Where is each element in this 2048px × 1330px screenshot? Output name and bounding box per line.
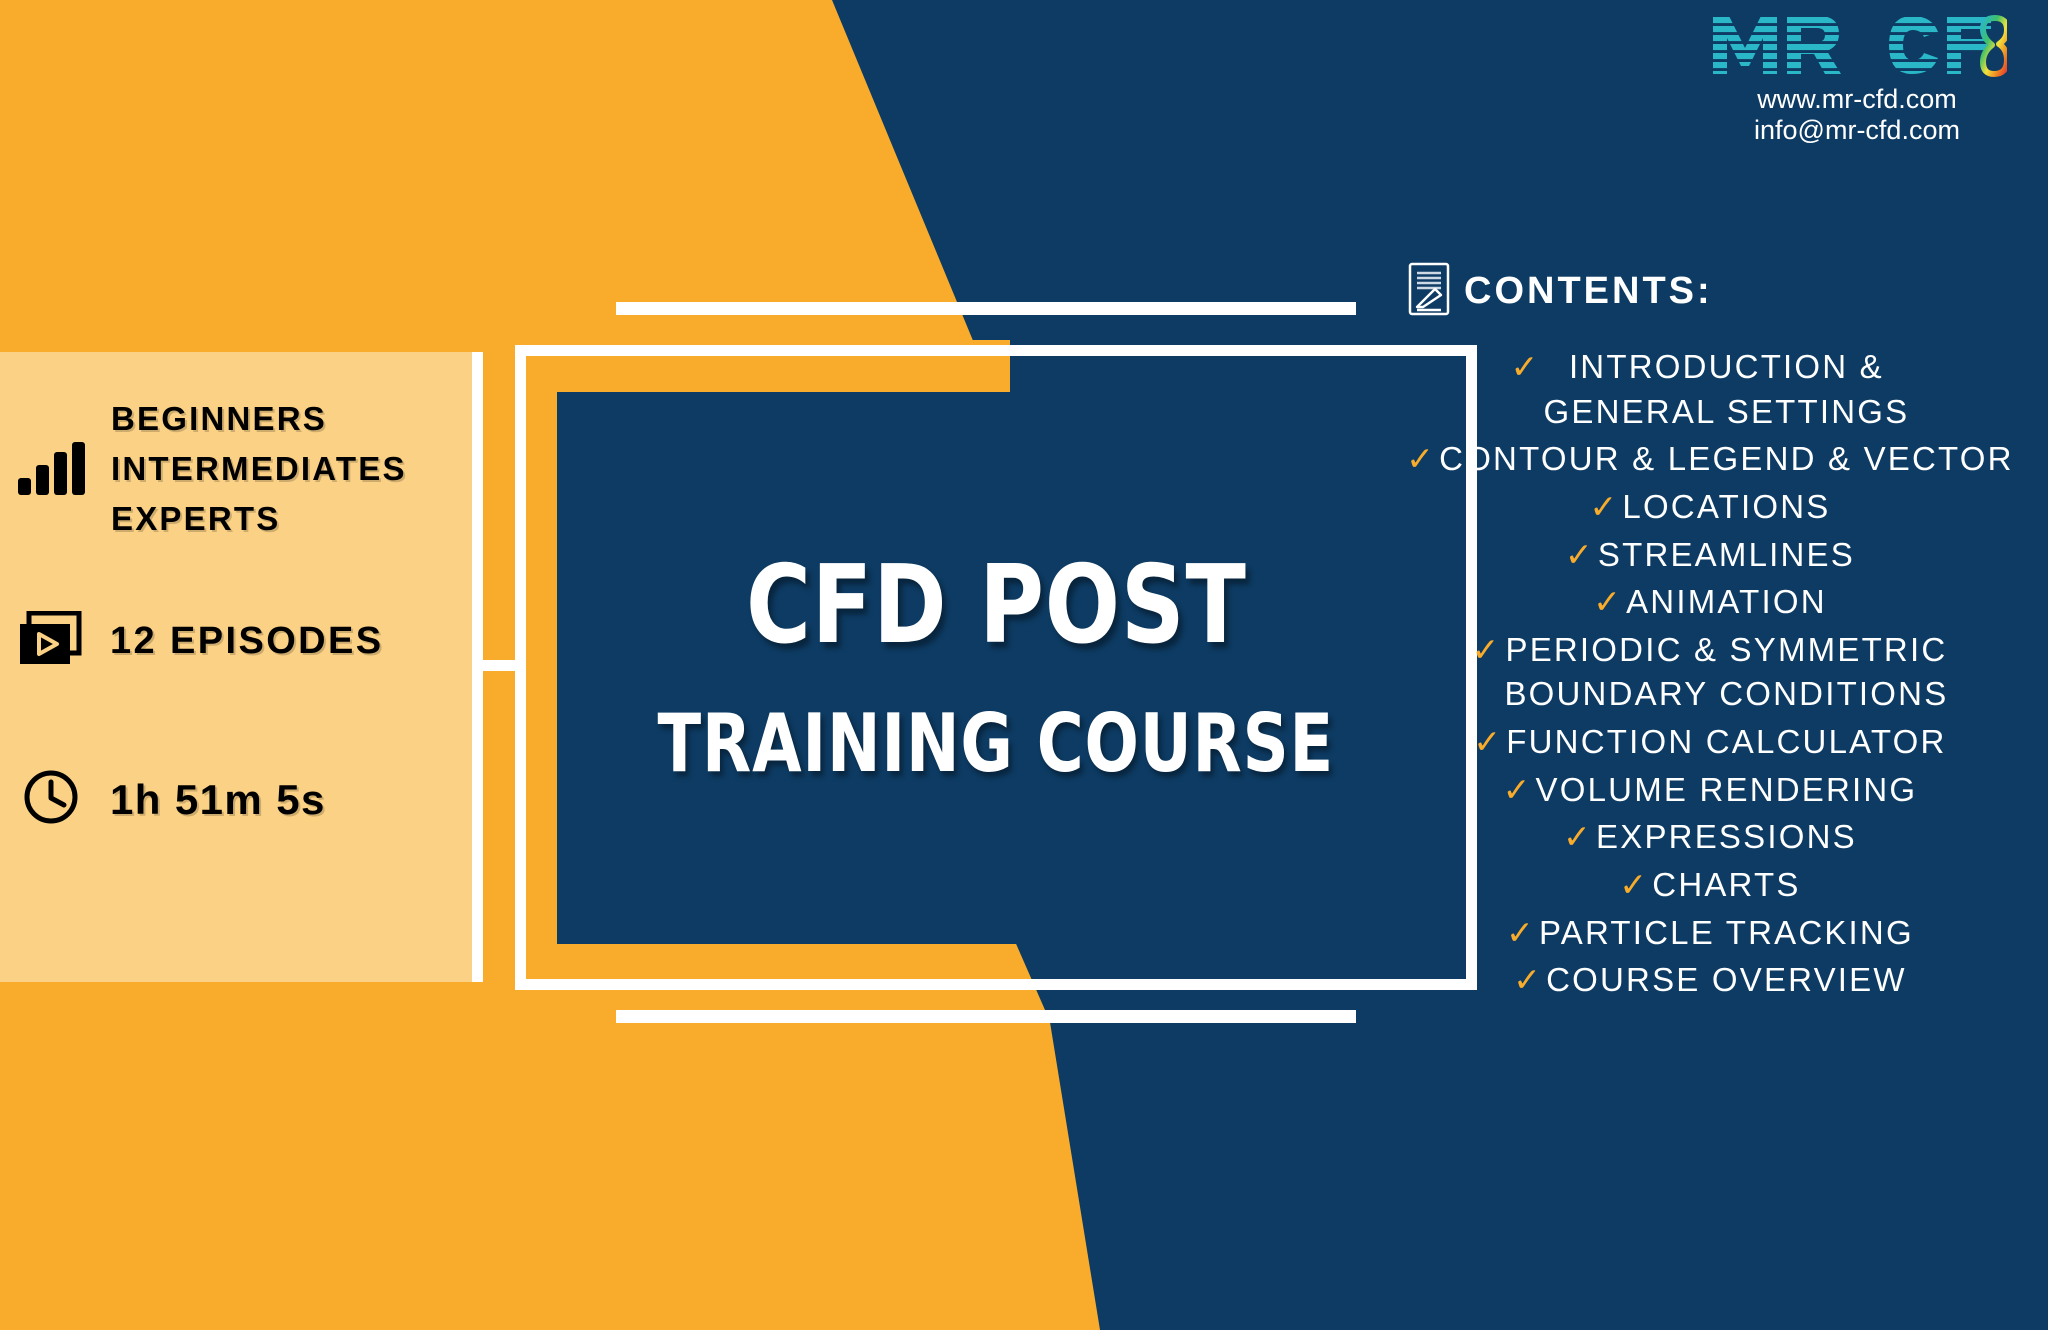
- contents-item: ✓ COURSE OVERVIEW: [1400, 962, 2020, 998]
- check-icon: ✓: [1565, 537, 1595, 573]
- check-icon: ✓: [1506, 915, 1536, 951]
- contents-item-line1: COURSE OVERVIEW: [1546, 962, 1907, 998]
- check-icon: ✓: [1619, 867, 1649, 903]
- skill-levels-text: BEGINNERS INTERMEDIATES EXPERTS: [111, 402, 407, 535]
- contents-item-line2: BOUNDARY CONDITIONS: [1504, 676, 1948, 712]
- video-playlist-icon: [18, 611, 84, 672]
- contents-item-line1: PERIODIC & SYMMETRIC: [1505, 632, 1947, 668]
- contents-item-line1: STREAMLINES: [1598, 537, 1855, 573]
- check-icon: ✓: [1513, 962, 1543, 998]
- contents-item: ✓ CHARTS: [1400, 867, 2020, 903]
- decorative-line-top: [616, 302, 1356, 315]
- course-subtitle: TRAINING COURSE: [658, 704, 1334, 784]
- contents-item-line1: CHARTS: [1652, 867, 1800, 903]
- check-icon: ✓: [1563, 819, 1593, 855]
- logo-website[interactable]: www.mr-cfd.com: [1692, 84, 2022, 115]
- contents-item-line1: VOLUME RENDERING: [1536, 772, 1918, 808]
- contents-item: ✓ EXPRESSIONS: [1400, 819, 2020, 855]
- contents-item: ✓ STREAMLINES: [1400, 537, 2020, 573]
- contents-item: ✓ FUNCTION CALCULATOR: [1400, 724, 2020, 760]
- level-intermediates: INTERMEDIATES: [111, 452, 407, 485]
- check-icon: ✓: [1511, 349, 1541, 385]
- check-icon: ✓: [1406, 441, 1436, 477]
- mr-cfd-logo-icon: [1707, 8, 2007, 80]
- contents-section: CONTENTS: ✓ INTRODUCTION & GENERAL SETTI…: [1400, 262, 2020, 1010]
- logo-mark: [1692, 8, 2022, 80]
- level-experts: EXPERTS: [111, 502, 407, 535]
- episodes-row: 12 EPISODES: [0, 611, 472, 672]
- brand-logo: www.mr-cfd.com info@mr-cfd.com: [1692, 8, 2022, 146]
- duration-label: 1h 51m 5s: [110, 776, 326, 824]
- clock-icon: [22, 768, 80, 831]
- contents-item: ✓ PARTICLE TRACKING: [1400, 915, 2020, 951]
- decorative-line-bottom: [616, 1010, 1356, 1023]
- contents-item: ✓ PERIODIC & SYMMETRIC BOUNDARY CONDITIO…: [1400, 632, 2020, 712]
- signal-bars-icon: [18, 443, 85, 495]
- level-beginners: BEGINNERS: [111, 402, 407, 435]
- background-orange-bottom: [0, 930, 1160, 1330]
- logo-contact: www.mr-cfd.com info@mr-cfd.com: [1692, 84, 2022, 146]
- contents-item: ✓ LOCATIONS: [1400, 489, 2020, 525]
- contents-heading: CONTENTS:: [1464, 270, 1713, 313]
- check-icon: ✓: [1473, 724, 1503, 760]
- title-card: CFD POST TRAINING COURSE: [557, 392, 1435, 944]
- course-title: CFD POST: [746, 552, 1247, 660]
- course-info-panel: BEGINNERS INTERMEDIATES EXPERTS 12 EPISO…: [0, 352, 472, 982]
- logo-email[interactable]: info@mr-cfd.com: [1692, 115, 2022, 146]
- contents-item-line1: ANIMATION: [1626, 584, 1827, 620]
- duration-row: 1h 51m 5s: [0, 768, 472, 831]
- course-poster: BEGINNERS INTERMEDIATES EXPERTS 12 EPISO…: [0, 0, 2048, 1330]
- document-pencil-icon: [1408, 262, 1450, 321]
- contents-item: ✓ ANIMATION: [1400, 584, 2020, 620]
- contents-list: ✓ INTRODUCTION & GENERAL SETTINGS ✓ CONT…: [1400, 349, 2020, 998]
- check-icon: ✓: [1472, 632, 1502, 668]
- episodes-label: 12 EPISODES: [110, 620, 384, 663]
- contents-item-line1: LOCATIONS: [1622, 489, 1830, 525]
- contents-item: ✓ VOLUME RENDERING: [1400, 772, 2020, 808]
- contents-item-line1: FUNCTION CALCULATOR: [1506, 724, 1946, 760]
- contents-item-line1: PARTICLE TRACKING: [1539, 915, 1914, 951]
- contents-item-line1: CONTOUR & LEGEND & VECTOR: [1439, 441, 2014, 477]
- contents-item: ✓ INTRODUCTION & GENERAL SETTINGS: [1400, 349, 2020, 429]
- check-icon: ✓: [1593, 584, 1623, 620]
- check-icon: ✓: [1590, 489, 1620, 525]
- check-icon: ✓: [1503, 772, 1533, 808]
- skill-levels-row: BEGINNERS INTERMEDIATES EXPERTS: [0, 402, 472, 535]
- contents-item-line2: GENERAL SETTINGS: [1543, 394, 1909, 430]
- contents-item: ✓ CONTOUR & LEGEND & VECTOR: [1400, 441, 2020, 477]
- contents-heading-row: CONTENTS:: [1408, 262, 2020, 321]
- contents-item-line1: EXPRESSIONS: [1596, 819, 1857, 855]
- contents-item-line1: INTRODUCTION &: [1569, 349, 1884, 385]
